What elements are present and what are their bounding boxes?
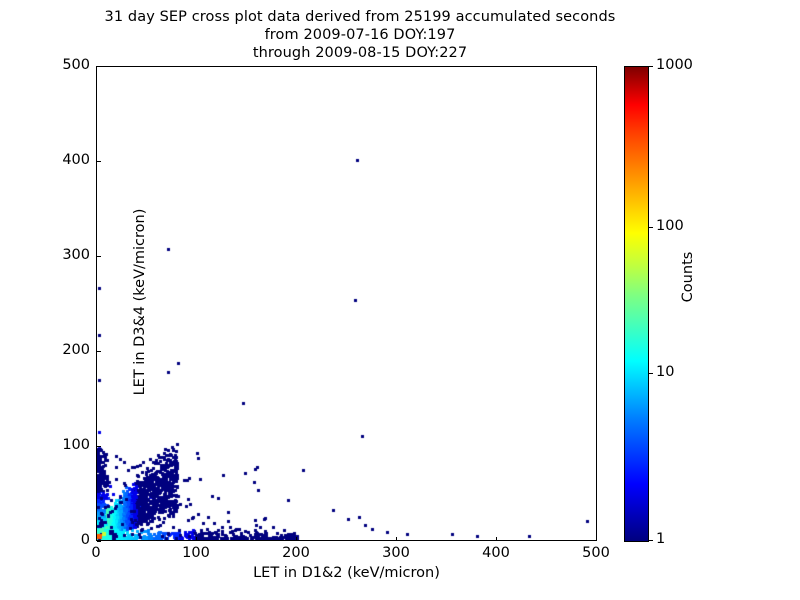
ytick-label-300: 300 [46, 247, 90, 263]
y-axis-title: LET in D3&4 (keV/micron) [132, 64, 148, 540]
ytick-mark-100 [97, 446, 101, 447]
ytick-mark-0 [97, 541, 101, 542]
cbtick-mark-100 [649, 227, 653, 228]
xtick-label-400: 400 [466, 545, 526, 561]
x-axis-title: LET in D1&2 (keV/micron) [96, 565, 597, 581]
ytick-label-100: 100 [46, 437, 90, 453]
colorbar-title: Counts [680, 217, 696, 337]
ytick-label-0: 0 [46, 532, 90, 548]
xtick-label-500: 500 [566, 545, 626, 561]
ytick-mark-200 [97, 351, 101, 352]
ytick-mark-500 [97, 66, 101, 67]
xtick-mark-500 [596, 537, 597, 541]
figure-canvas: 31 day SEP cross plot data derived from … [0, 0, 800, 600]
xtick-mark-300 [396, 537, 397, 541]
title-line-1: 31 day SEP cross plot data derived from … [0, 8, 720, 26]
ytick-label-500: 500 [46, 57, 90, 73]
chart-title: 31 day SEP cross plot data derived from … [0, 8, 720, 62]
ytick-label-400: 400 [46, 152, 90, 168]
cbtick-label-1000: 1000 [656, 57, 693, 73]
xtick-label-100: 100 [166, 545, 226, 561]
ytick-mark-400 [97, 161, 101, 162]
xtick-mark-200 [296, 537, 297, 541]
title-line-2: from 2009-07-16 DOY:197 [0, 26, 720, 44]
ytick-mark-300 [97, 256, 101, 257]
cbtick-label-1: 1 [656, 531, 665, 547]
xtick-label-300: 300 [366, 545, 426, 561]
cbtick-label-10: 10 [656, 364, 674, 380]
xtick-label-200: 200 [266, 545, 326, 561]
cbtick-mark-10 [649, 373, 653, 374]
colorbar-gradient [624, 66, 649, 542]
xtick-mark-100 [196, 537, 197, 541]
xtick-mark-400 [496, 537, 497, 541]
scatter-points-layer [97, 67, 596, 540]
cbtick-mark-1 [649, 540, 653, 541]
plot-axes-area [96, 66, 597, 541]
title-line-3: through 2009-08-15 DOY:227 [0, 44, 720, 62]
cbtick-mark-1000 [649, 66, 653, 67]
colorbar-container: 1000 100 10 1 [624, 66, 649, 542]
ytick-label-200: 200 [46, 342, 90, 358]
